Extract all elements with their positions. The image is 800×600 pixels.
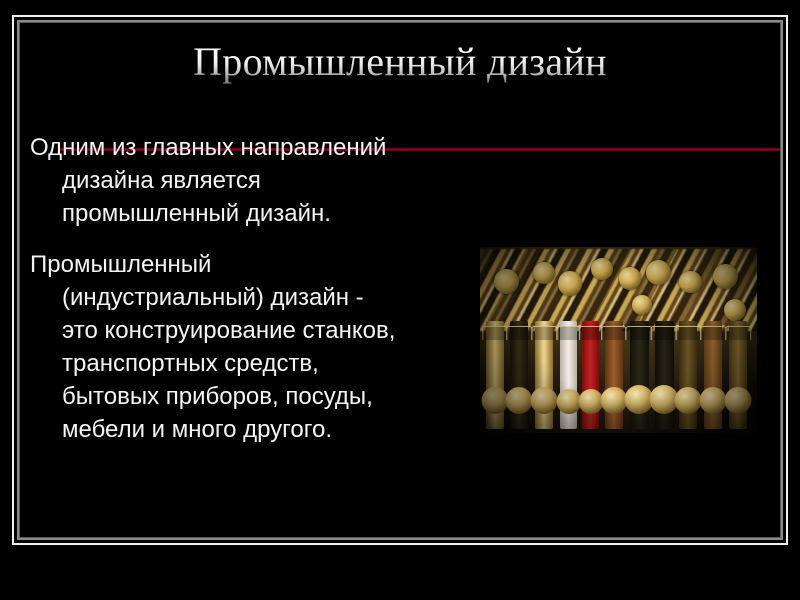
body-line: Промышленный [30,248,470,281]
presentation-slide: Промышленный дизайн Одним из главных нап… [0,0,800,600]
slide-title: Промышленный дизайн [40,38,760,86]
body-paragraph-1: Одним из главных направлений дизайна явл… [30,131,470,230]
wristwatches-collection-photo [480,247,757,433]
body-line: дизайна является [30,164,470,197]
body-line: Одним из главных направлений [30,131,470,164]
body-line: мебели и много другого. [30,413,470,446]
body-line: бытовых приборов, посуды, [30,380,470,413]
body-line: транспортных средств, [30,347,470,380]
body-line: (индустриальный) дизайн - [30,281,470,314]
body-line: промышленный дизайн. [30,197,470,230]
photo-vignette [480,247,757,433]
body-line: это конструирование станков, [30,314,470,347]
body-paragraph-2: Промышленный (индустриальный) дизайн - э… [30,248,470,446]
